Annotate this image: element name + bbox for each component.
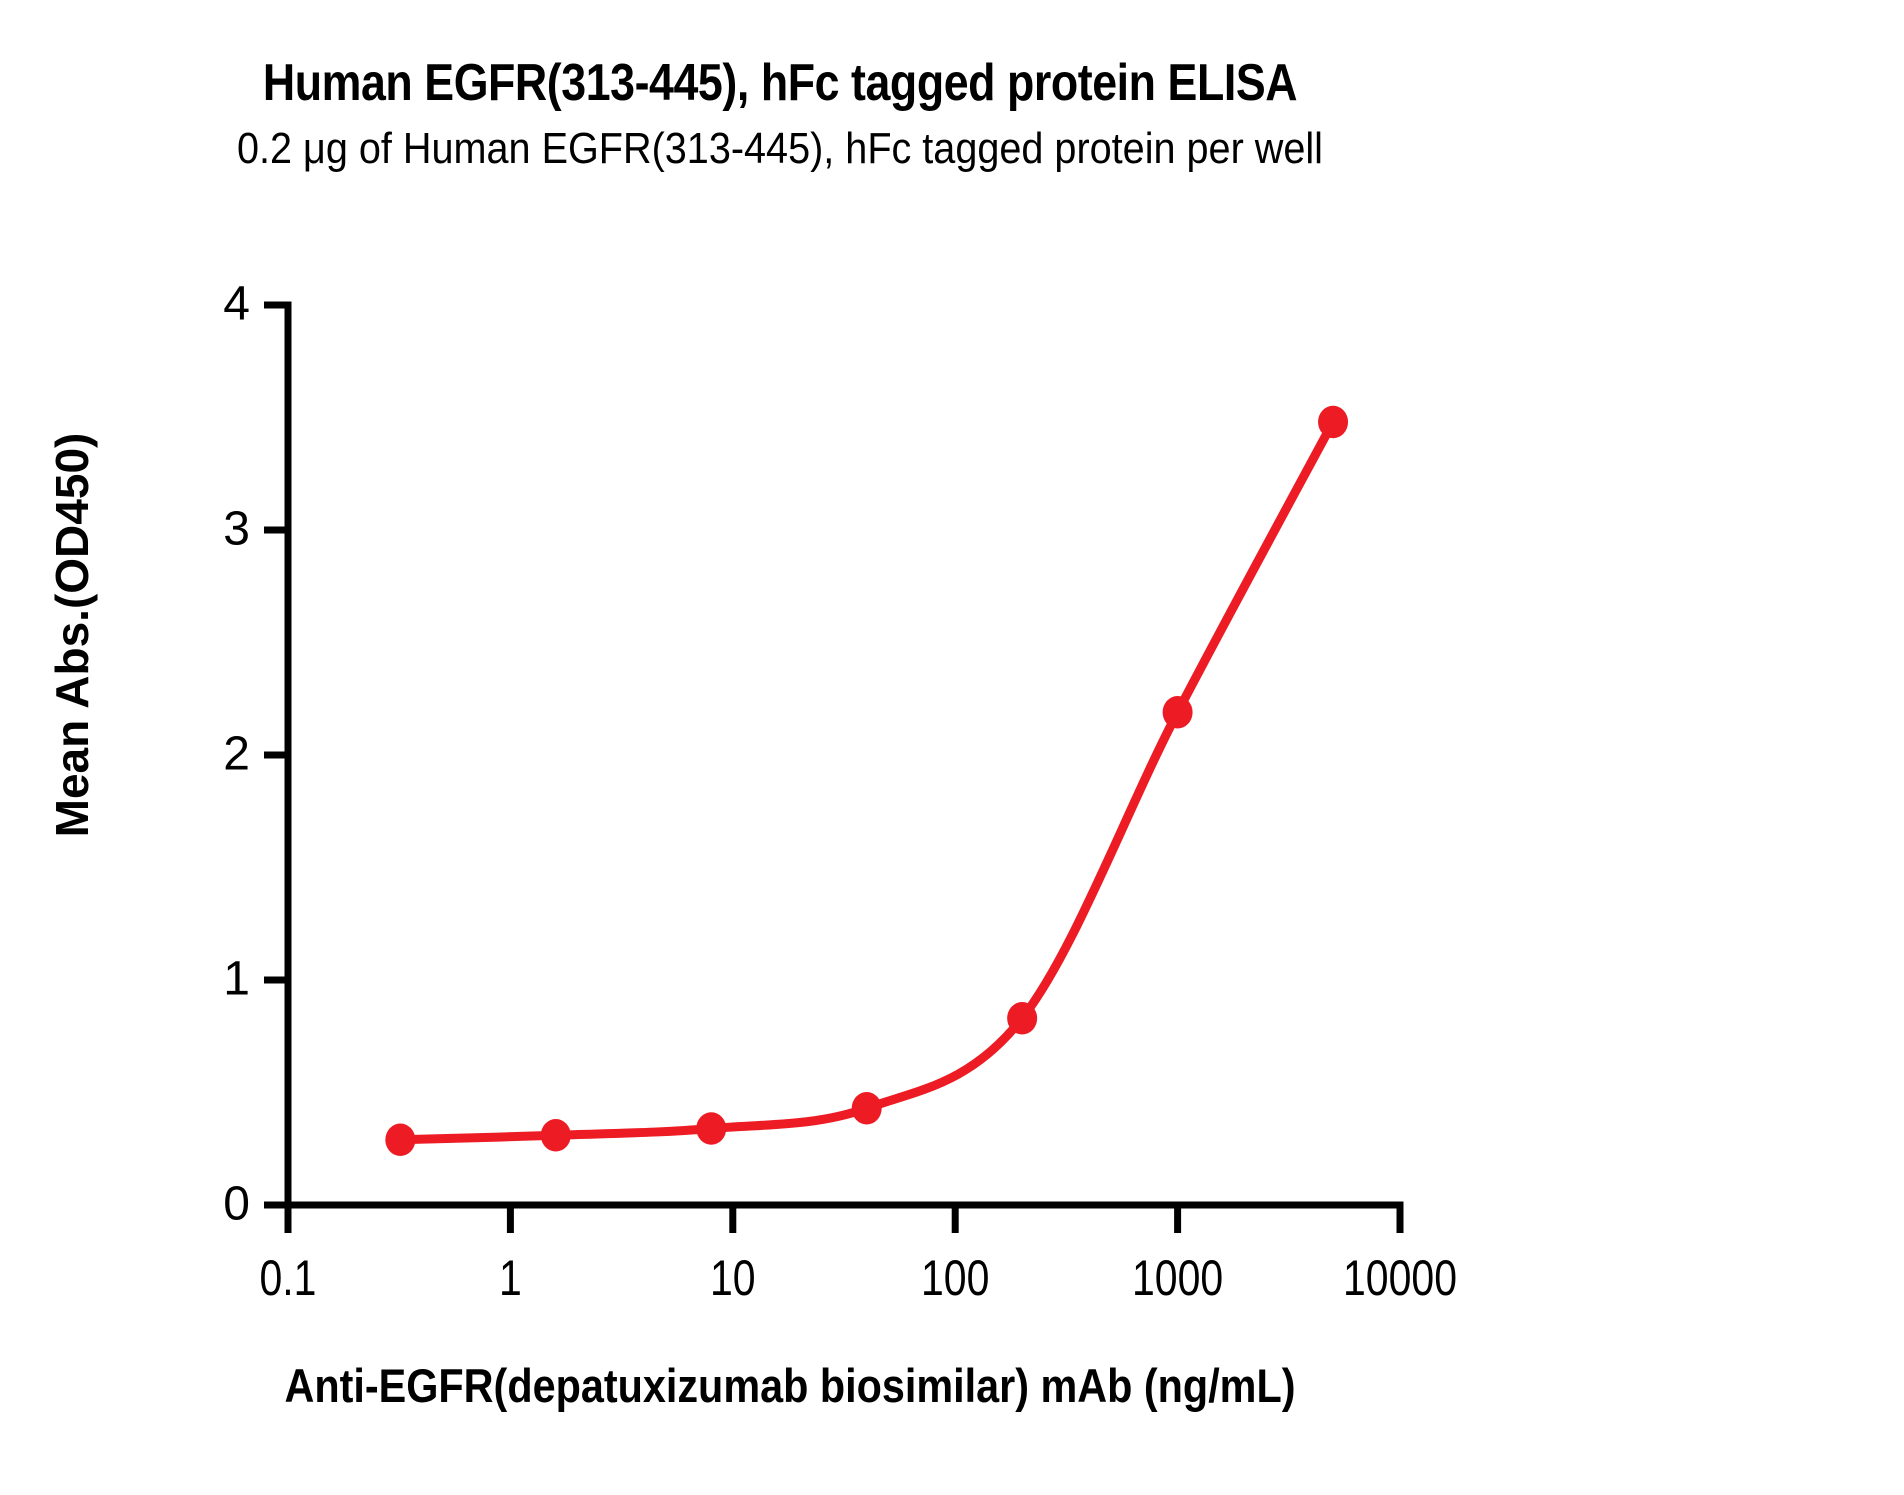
y-tick-label: 4 xyxy=(223,278,250,331)
data-point xyxy=(696,1112,726,1144)
series-curve xyxy=(400,422,1333,1140)
data-point xyxy=(1163,696,1193,728)
data-point xyxy=(385,1124,415,1156)
x-tick-label: 1000 xyxy=(1132,1250,1223,1306)
tick-mark-group xyxy=(264,305,1400,1233)
x-tick-label: 0.1 xyxy=(260,1250,317,1306)
series-point-group xyxy=(385,406,1348,1156)
y-tick-label: 2 xyxy=(223,728,250,781)
y-tick-label-group: 43210 xyxy=(223,278,250,1231)
axis-lines xyxy=(288,305,1400,1205)
x-tick-label: 1 xyxy=(499,1250,522,1306)
y-tick-label: 1 xyxy=(223,953,250,1006)
elisa-chart-figure: Human EGFR(313-445), hFc tagged protein … xyxy=(0,0,1904,1495)
x-tick-label-group: 0.1110100100010000 xyxy=(260,1250,1458,1306)
data-point xyxy=(541,1119,571,1151)
x-tick-label: 10000 xyxy=(1343,1250,1457,1306)
data-point xyxy=(1318,406,1348,438)
x-tick-label: 100 xyxy=(921,1250,989,1306)
y-tick-label: 0 xyxy=(223,1178,250,1231)
plot-area: 43210 0.1110100100010000 xyxy=(0,0,1904,1495)
x-tick-label: 10 xyxy=(710,1250,756,1306)
data-point xyxy=(852,1092,882,1124)
y-tick-label: 3 xyxy=(223,503,250,556)
data-point xyxy=(1007,1002,1037,1034)
